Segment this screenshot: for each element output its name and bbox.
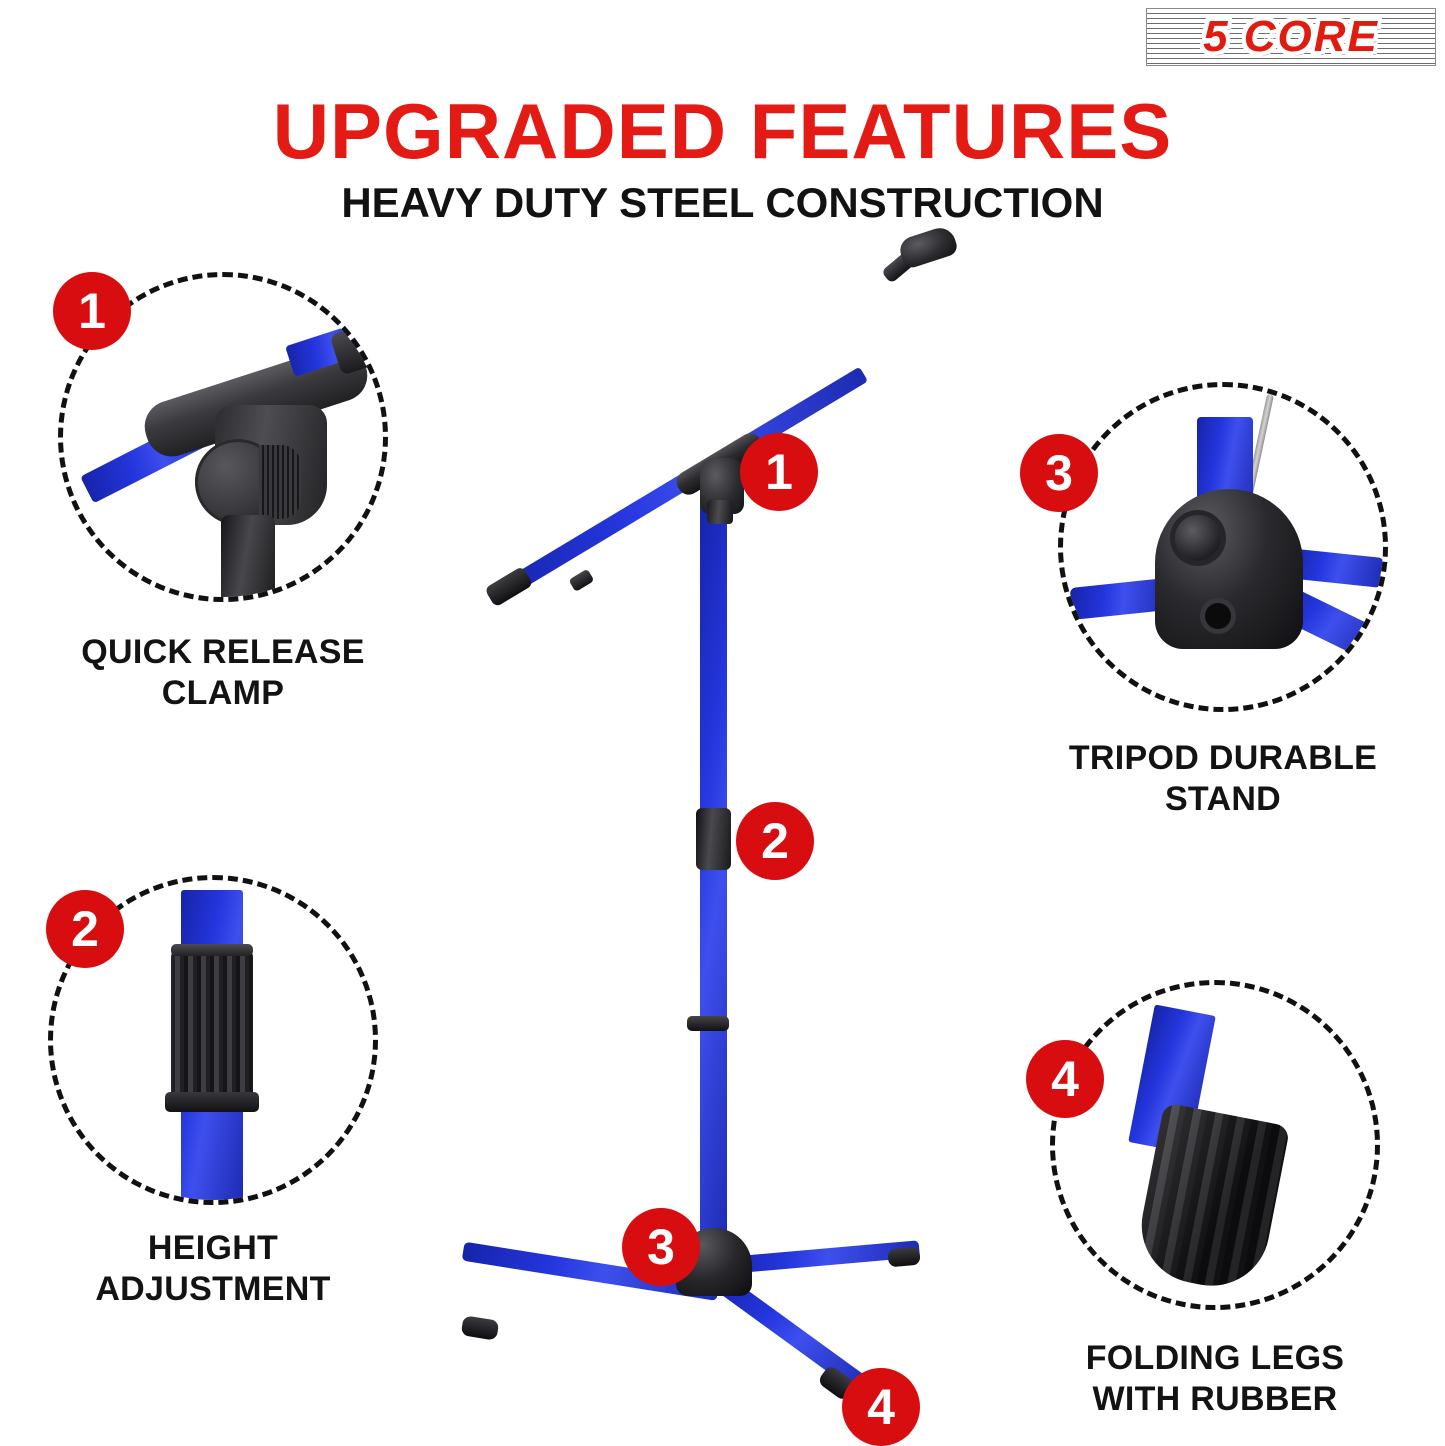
tripod-detail-hub	[1155, 489, 1303, 649]
callout-4-photo	[1055, 985, 1375, 1305]
callout-1-caption-line2: CLAMP	[13, 673, 433, 714]
callout-3-caption-line2: STAND	[1013, 779, 1433, 820]
height-adjustment-collar	[696, 808, 731, 870]
callout-4-caption: FOLDING LEGS WITH RUBBER	[1005, 1338, 1425, 1421]
callout-4-caption-line2: WITH RUBBER	[1005, 1379, 1425, 1420]
tripod-hub-hole	[1205, 603, 1231, 629]
cable-clip	[687, 1016, 729, 1031]
callout-4-badge[interactable]: 4	[1026, 1040, 1104, 1118]
callout-1-caption-line1: QUICK RELEASE	[13, 632, 433, 673]
clamp-neck	[707, 500, 733, 524]
product-marker-4[interactable]: 4	[842, 1368, 920, 1446]
boom-arm-ring	[568, 569, 594, 592]
callout-1-caption: QUICK RELEASE CLAMP	[13, 632, 433, 715]
callout-2-caption: HEIGHT ADJUSTMENT	[3, 1228, 423, 1311]
product-marker-1[interactable]: 1	[740, 433, 818, 511]
clamp-stem	[221, 515, 275, 597]
callout-1-badge[interactable]: 1	[53, 272, 131, 350]
tripod-lock-knob	[1175, 515, 1221, 561]
callout-3-caption: TRIPOD DURABLE STAND	[1013, 738, 1433, 821]
tripod-detail-leg-left	[1070, 578, 1169, 620]
adjust-collar-ring	[165, 1092, 259, 1112]
callout-4-circle	[1050, 980, 1380, 1310]
callout-3-circle	[1058, 382, 1388, 712]
callout-2-caption-line2: ADJUSTMENT	[3, 1269, 423, 1310]
product-marker-3[interactable]: 3	[622, 1208, 700, 1286]
callout-3-photo	[1063, 387, 1383, 707]
callout-2-caption-line1: HEIGHT	[3, 1228, 423, 1269]
boom-arm-group	[490, 238, 930, 618]
callout-3-caption-line1: TRIPOD DURABLE	[1013, 738, 1433, 779]
adjust-collar-top	[171, 944, 253, 956]
rubber-foot-right	[887, 1247, 920, 1268]
callout-3-badge[interactable]: 3	[1020, 434, 1098, 512]
boom-arm-end-cap	[484, 566, 533, 608]
rubber-foot-left	[461, 1315, 500, 1340]
product-marker-2[interactable]: 2	[736, 802, 814, 880]
adjust-ribbed-collar	[171, 950, 253, 1102]
callout-4-caption-line1: FOLDING LEGS	[1005, 1338, 1425, 1379]
callout-2-badge[interactable]: 2	[46, 890, 124, 968]
clamp-knob-ridges	[259, 445, 301, 519]
